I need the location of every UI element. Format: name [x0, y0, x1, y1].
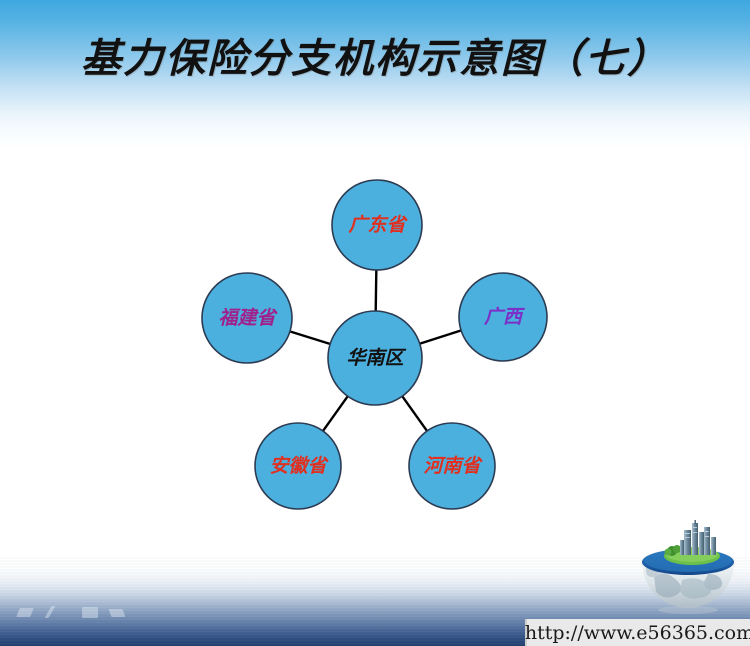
earth-city-globe-icon: [636, 518, 740, 620]
slide-canvas: 基力保险分支机构示意图（七） 华南区广东省广西河南省安徽省福建省: [0, 0, 750, 646]
diagram-node-spoke-3-label: 河南省: [423, 455, 483, 477]
diagram-edge-4: [322, 395, 348, 431]
diagram-node-spoke-2-label: 广西: [483, 306, 525, 328]
diagram-edge-3: [402, 395, 428, 431]
diagram-node-spoke-4-label: 安徽省: [269, 455, 329, 477]
diagram-node-spoke-5-label: 福建省: [218, 307, 278, 329]
diagram-node-center-label: 华南区: [346, 347, 406, 369]
diagram-edge-1: [376, 269, 377, 312]
diagram-node-spoke-1-label: 广东省: [347, 214, 408, 236]
diagram-node-spoke-1[interactable]: 广东省: [332, 180, 422, 270]
diagram-node-spoke-4[interactable]: 安徽省: [255, 423, 341, 509]
url-watermark: http://www.e56365.com: [525, 619, 750, 646]
diagram-nodes: 华南区广东省广西河南省安徽省福建省: [202, 180, 547, 509]
diagram-edge-2: [419, 330, 462, 344]
diagram-node-spoke-5[interactable]: 福建省: [202, 273, 292, 363]
diagram-node-center[interactable]: 华南区: [328, 311, 422, 405]
diagram-node-spoke-3[interactable]: 河南省: [409, 423, 495, 509]
diagram-node-spoke-2[interactable]: 广西: [459, 273, 547, 361]
watermark-url-text: http://www.e56365.com: [525, 622, 750, 644]
diagram-edge-5: [289, 331, 331, 344]
